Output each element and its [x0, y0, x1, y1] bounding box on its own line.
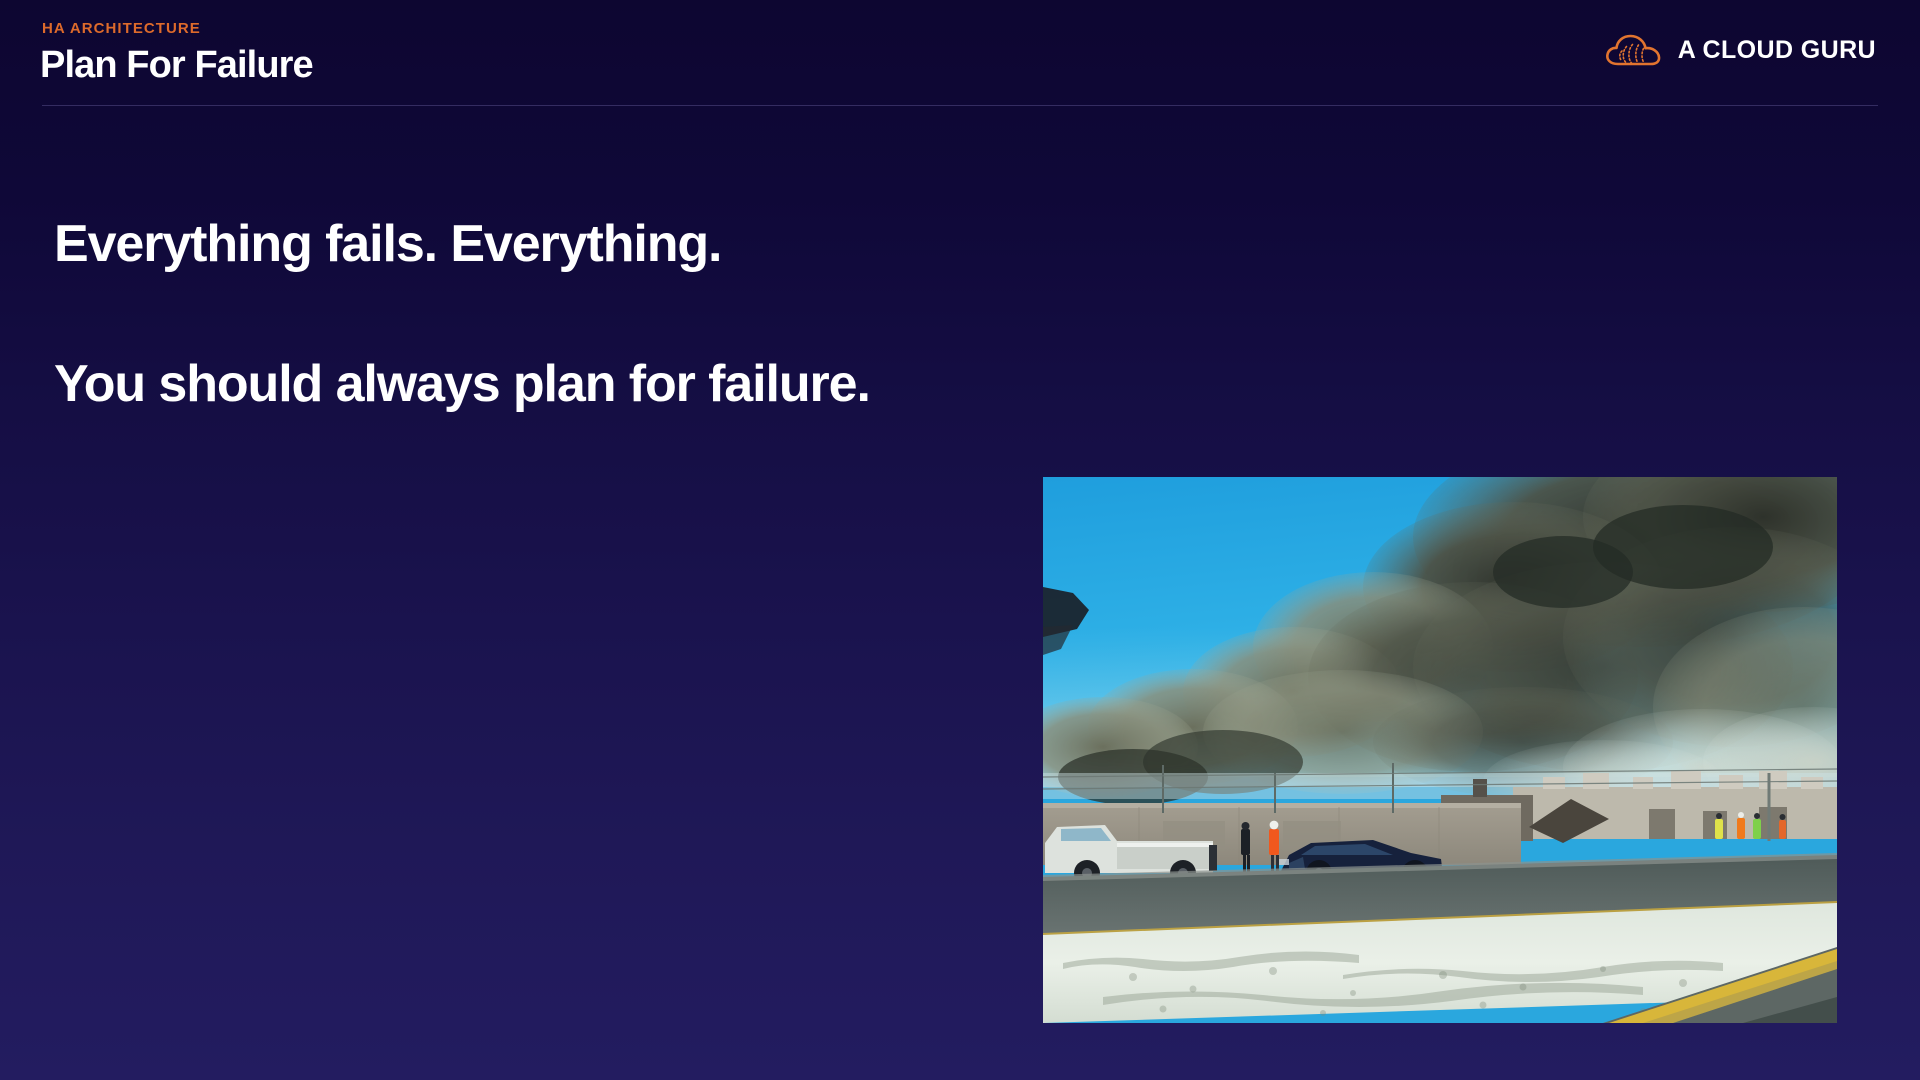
slide-root: HA ARCHITECTURE Plan For Failure A CLOUD… — [0, 0, 1920, 1080]
headline-block: Everything fails. Everything. You should… — [54, 215, 1054, 413]
section-eyebrow: HA ARCHITECTURE — [42, 21, 201, 36]
page-title: Plan For Failure — [40, 44, 313, 88]
slide-header: HA ARCHITECTURE Plan For Failure A CLOUD… — [0, 0, 1920, 106]
brand-name-label: A CLOUD GURU — [1678, 38, 1876, 63]
cloud-guru-logo-icon — [1604, 30, 1664, 70]
fire-photo — [1043, 477, 1837, 1023]
headline-primary: Everything fails. Everything. — [54, 215, 1054, 273]
headline-secondary: You should always plan for failure. — [54, 355, 1054, 413]
brand-lockup: A CLOUD GURU — [1604, 28, 1876, 72]
header-divider — [42, 105, 1878, 106]
